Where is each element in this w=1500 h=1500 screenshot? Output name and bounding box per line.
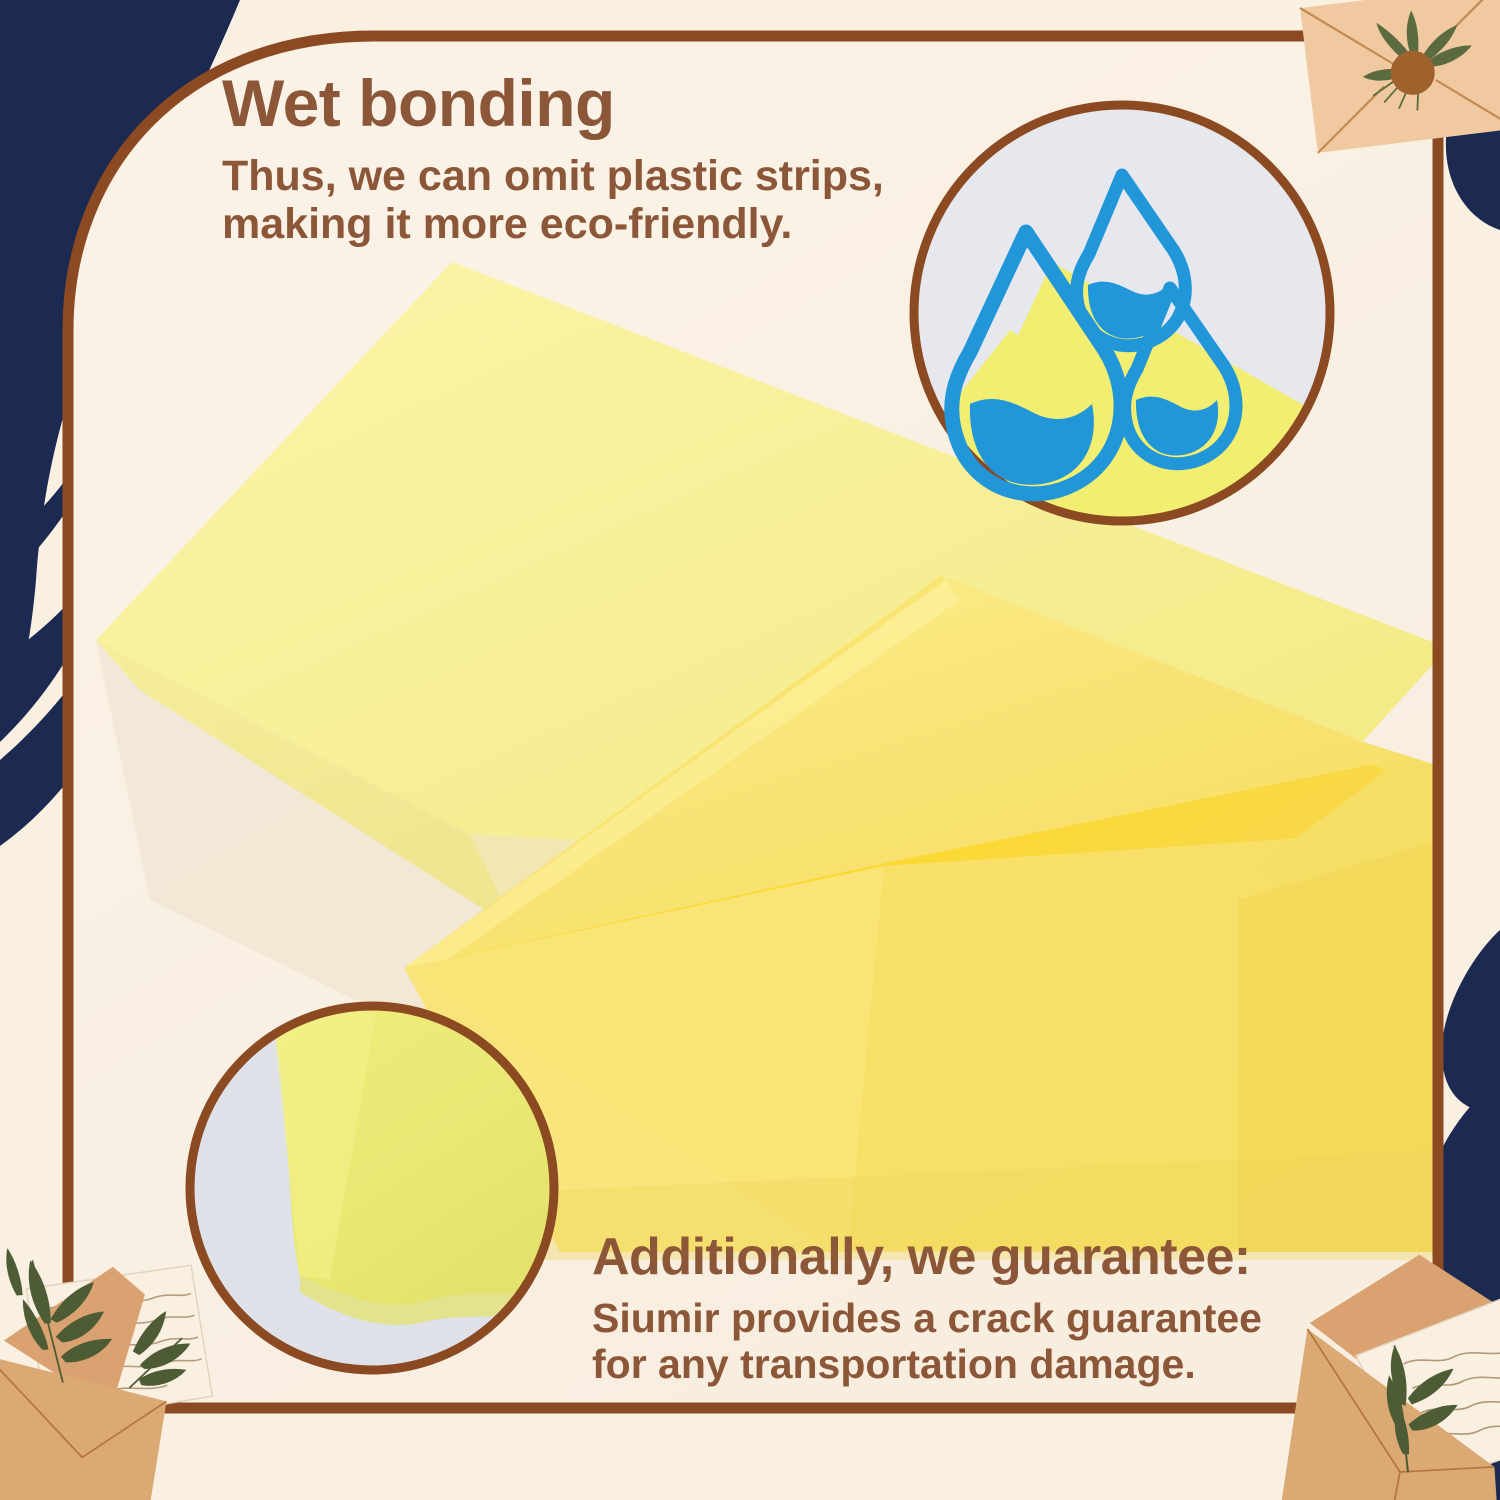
subtitle-guarantee: Siumir provides a crack guarantee for an… (592, 1296, 1262, 1388)
page-title-wet-bonding: Wet bonding (222, 70, 615, 136)
page-title-guarantee: Additionally, we guarantee: (592, 1231, 1251, 1283)
promo-infographic: Wet bonding Thus, we can omit plastic st… (0, 0, 1500, 1500)
subtitle-wet-bonding: Thus, we can omit plastic strips, making… (222, 152, 884, 248)
